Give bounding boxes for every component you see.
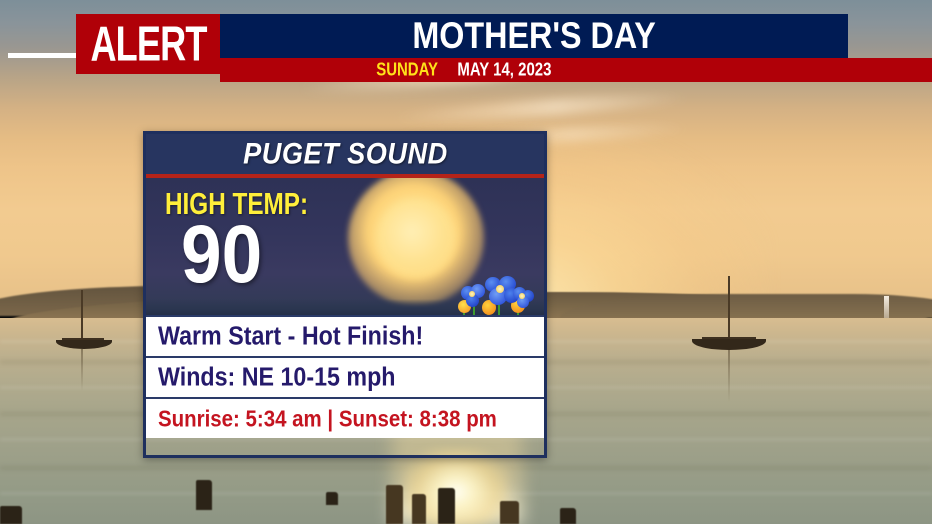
- piling: [0, 506, 22, 524]
- piling: [438, 488, 455, 524]
- sailboat-right: [684, 276, 774, 348]
- alert-badge: ALERT: [76, 14, 220, 74]
- piling: [326, 492, 338, 505]
- alert-header: ALERT MOTHER'S DAY SUNDAY MAY 14, 2023: [0, 0, 932, 90]
- mothers-day-badge-icon: MOTHER'S DAY: [451, 274, 543, 315]
- date-weekday: SUNDAY: [376, 59, 438, 81]
- piling: [196, 480, 212, 510]
- forecast-row-sun-times: Sunrise: 5:34 am | Sunset: 8:38 pm: [146, 397, 544, 438]
- sun-core-icon: [376, 198, 456, 278]
- piling: [386, 485, 403, 524]
- high-temp-value: 90: [181, 216, 262, 294]
- header-date-bar: SUNDAY MAY 14, 2023: [220, 58, 932, 82]
- beacon-marker: [884, 296, 889, 318]
- summary-text: Warm Start - Hot Finish!: [158, 321, 423, 351]
- piling: [412, 494, 426, 524]
- header-accent-line: [8, 53, 76, 58]
- header-title-bar: MOTHER'S DAY: [220, 14, 848, 58]
- forecast-panel: PUGET SOUND HIGH TEMP: 90: [143, 131, 547, 458]
- panel-header: PUGET SOUND: [146, 134, 544, 178]
- piling: [500, 501, 519, 524]
- date-full-text: MAY 14, 2023: [458, 59, 552, 81]
- region-title: PUGET SOUND: [243, 137, 448, 171]
- winds-text: Winds: NE 10-15 mph: [158, 362, 395, 392]
- forecast-row-winds: Winds: NE 10-15 mph: [146, 356, 544, 397]
- sun-times-text: Sunrise: 5:34 am | Sunset: 8:38 pm: [158, 405, 497, 432]
- forecast-row-summary: Warm Start - Hot Finish!: [146, 315, 544, 356]
- alert-label: ALERT: [90, 19, 206, 69]
- piling: [560, 508, 576, 524]
- sailboat-left: [48, 290, 118, 348]
- high-temp-section: HIGH TEMP: 90: [146, 178, 544, 315]
- page-title: MOTHER'S DAY: [412, 15, 655, 58]
